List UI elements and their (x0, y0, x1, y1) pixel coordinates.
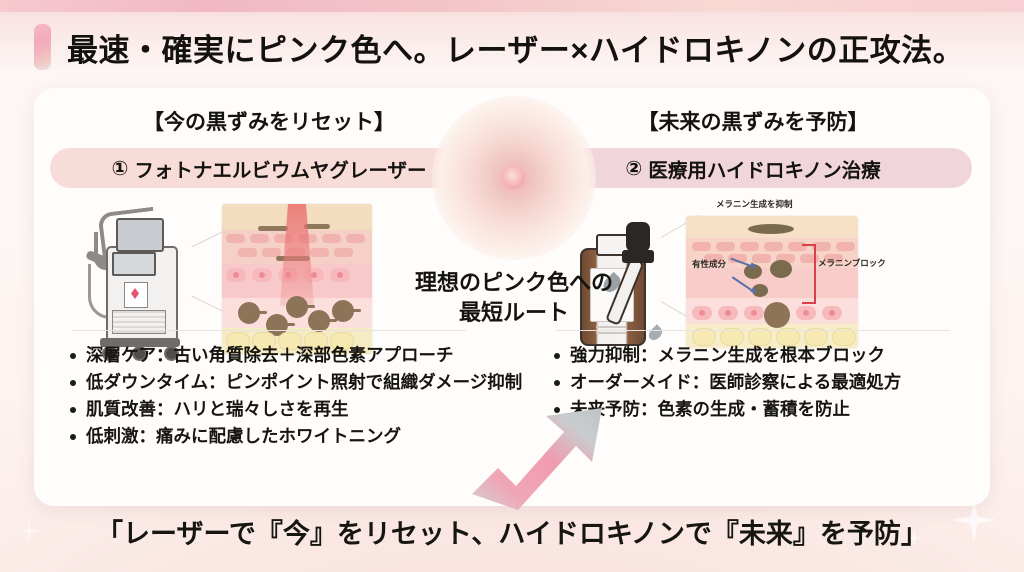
center-line-1: 理想のピンク色への (368, 268, 660, 298)
title-accent-bar (34, 24, 51, 70)
list-item: 強力抑制：メラニン生成を根本ブロック (552, 342, 901, 369)
section-divider (72, 330, 466, 331)
melanin-block-bracket (802, 244, 816, 304)
skin-cross-section-laser (222, 204, 372, 354)
infographic-slide: 最速・確実にピンク色へ。レーザー×ハイドロキノンの正攻法。 【今の黒ずみをリセッ… (0, 0, 1024, 572)
list-item: 肌質改善：ハリと瑞々しさを再生 (68, 396, 522, 423)
list-item: オーダーメイド：医師診察による最適処方 (552, 369, 901, 396)
badge-laser: ① フォトナエルビウムヤグレーザー (50, 148, 488, 188)
badge-hydroquinone: ② 医療用ハイドロキノン治療 (534, 148, 972, 188)
badge-label: 医療用ハイドロキノン治療 (648, 154, 880, 183)
annotation-melanin-block: メラニンブロック (818, 258, 886, 269)
laser-machine-icon (84, 204, 192, 356)
list-item: 深層ケア：古い角質除去＋深部色素アプローチ (68, 342, 522, 369)
skin-cross-section-hydroquinone (686, 216, 858, 348)
page-title: 最速・確実にピンク色へ。レーザー×ハイドロキノンの正攻法。 (67, 25, 964, 70)
center-message: 理想のピンク色への 最短ルート (368, 268, 660, 327)
badge-number: ② (625, 156, 642, 181)
center-line-2: 最短ルート (368, 298, 660, 328)
badge-number: ① (111, 156, 128, 181)
melanin-blob (770, 260, 792, 278)
footer-message: 「レーザーで『今』をリセット、ハイドロキノンで『未来』を予防」 (0, 512, 1024, 551)
nipple-detail (503, 167, 525, 189)
column-heading: 【今の黒ずみをリセット】 (50, 106, 488, 136)
title-row: 最速・確実にピンク色へ。レーザー×ハイドロキノンの正攻法。 (34, 24, 964, 70)
breast-illustration (432, 96, 596, 260)
annotation-active-ingredient: 有性成分 (692, 258, 726, 270)
benefits-list-laser: 深層ケア：古い角質除去＋深部色素アプローチ 低ダウンタイム：ピンポイント照射で組… (68, 342, 522, 451)
annotation-melanin-suppress: メラニン生成を抑制 (716, 198, 793, 210)
badge-label: フォトナエルビウムヤグレーザー (134, 154, 426, 183)
melanocyte-icon (764, 302, 790, 328)
column-heading: 【未来の黒ずみを予防】 (534, 106, 972, 136)
list-item: 低刺激：痛みに配慮したホワイトニング (68, 423, 522, 450)
list-item: 低ダウンタイム：ピンポイント照射で組織ダメージ抑制 (68, 369, 522, 396)
dropper-icon (626, 222, 650, 252)
melanin-blob (748, 224, 794, 234)
section-divider (556, 330, 950, 331)
upward-growth-arrow-icon (468, 398, 608, 518)
